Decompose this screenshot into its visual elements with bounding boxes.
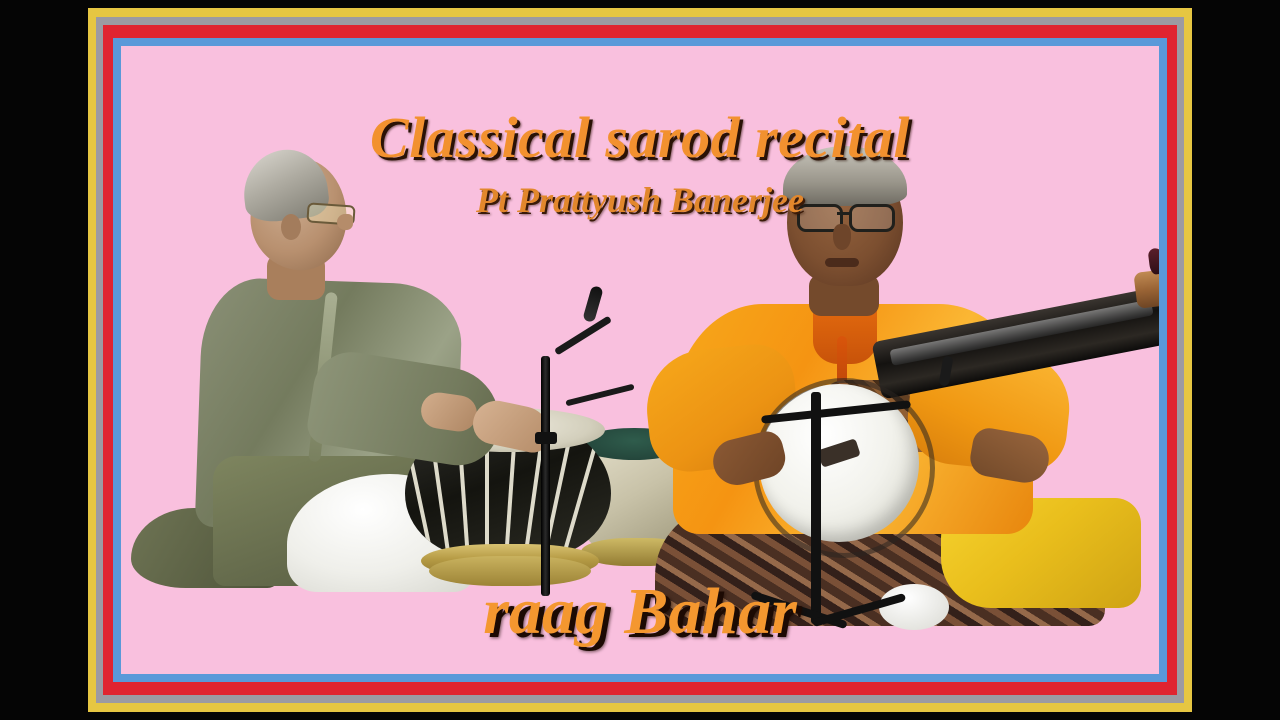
sarod-player-nose (833, 224, 851, 250)
microphone-clip (535, 432, 557, 444)
microphone-boom-arm (554, 316, 612, 356)
microphone-icon (582, 285, 603, 323)
poster-raag-name: raag Bahar (121, 574, 1159, 650)
poster-canvas: Classical sarod recital Pt Prattyush Ban… (121, 46, 1159, 674)
microphone-boom-arm-lower (565, 384, 634, 407)
poster-stage: Classical sarod recital Pt Prattyush Ban… (0, 0, 1280, 720)
poster-title: Classical sarod recital (121, 104, 1159, 171)
poster-artist: Pt Prattyush Banerjee (121, 179, 1159, 221)
sarod-tuning-peg (1148, 248, 1159, 276)
sarod-pegbox (1133, 255, 1159, 309)
microphone-stand-icon (541, 356, 550, 596)
sarod-player-mouth (825, 258, 859, 267)
